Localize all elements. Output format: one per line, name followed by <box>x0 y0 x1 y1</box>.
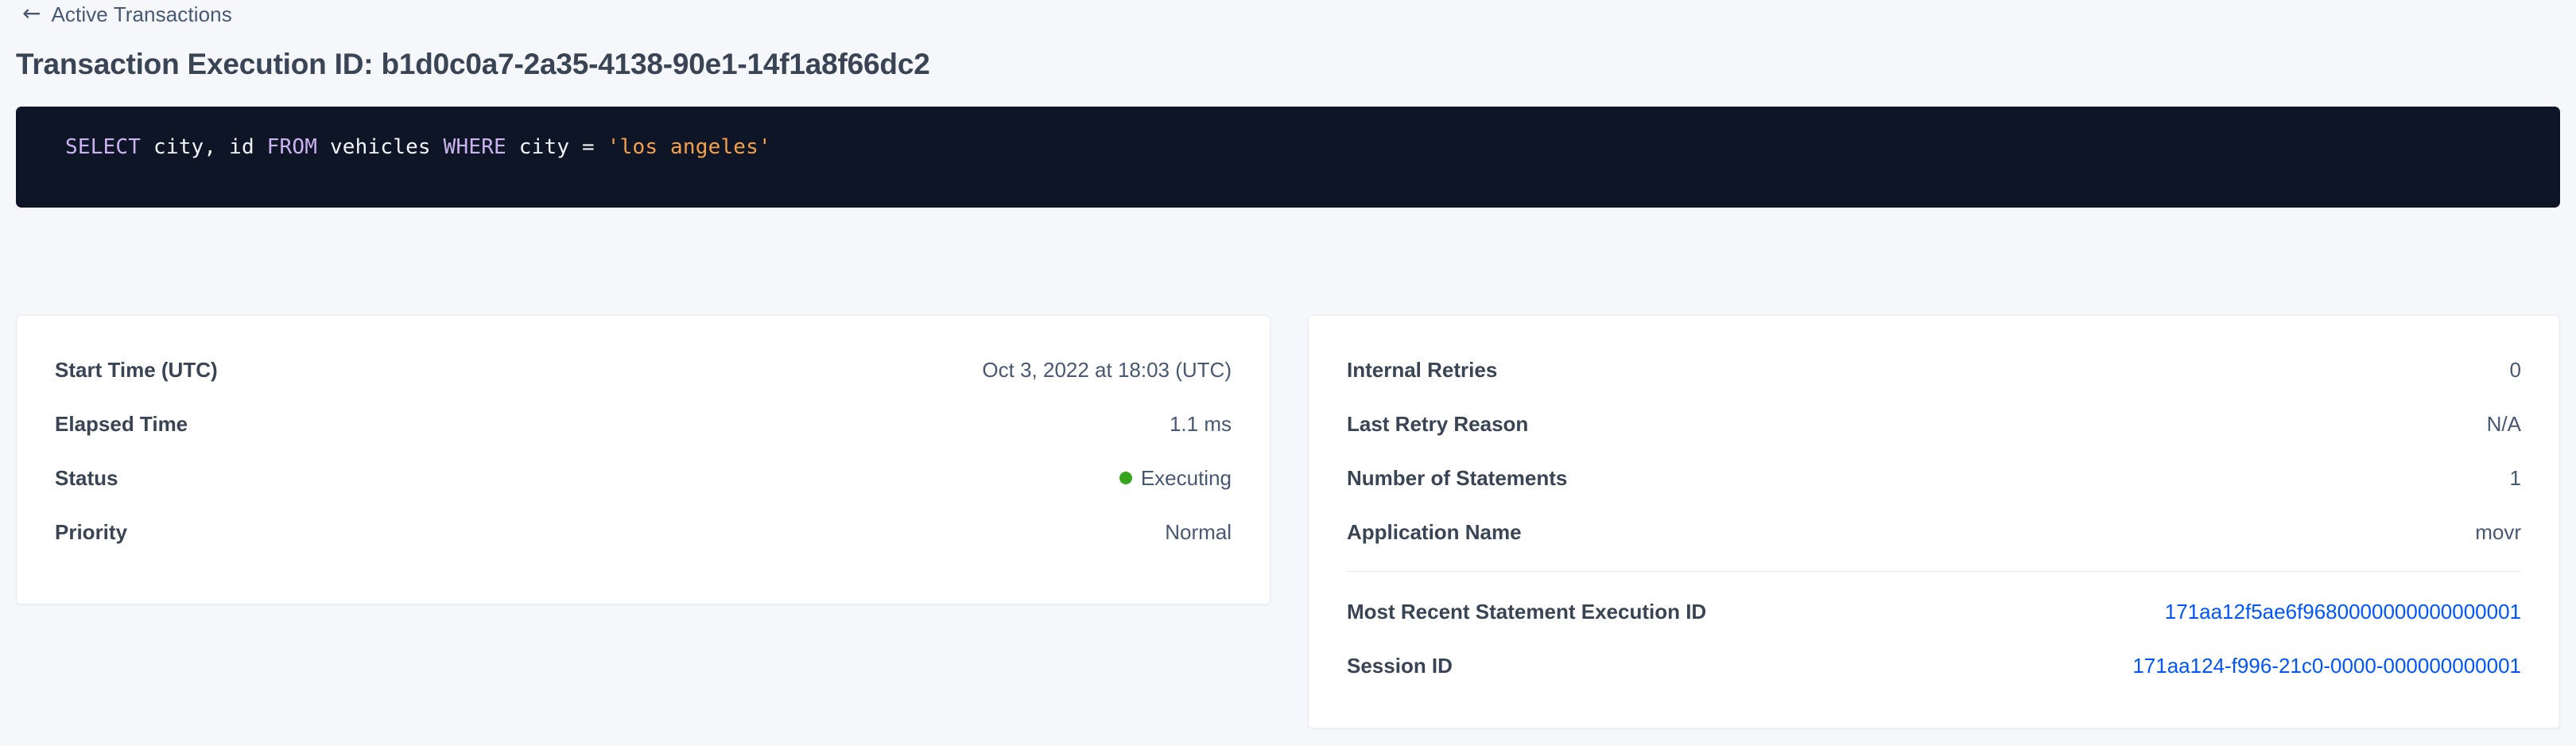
overview-label: Priority <box>55 520 127 545</box>
overview-label: Elapsed Time <box>55 412 188 437</box>
detail-id-value-link[interactable]: 171aa124-f996-21c0-0000-000000000001 <box>2132 654 2521 678</box>
sql-token-op <box>431 135 444 159</box>
breadcrumb[interactable]: ← Active Transactions <box>22 2 232 26</box>
detail-id-row: Most Recent Statement Execution ID171aa1… <box>1347 585 2521 639</box>
detail-row: Number of Statements1 <box>1347 451 2521 505</box>
sql-token-kw: FROM <box>267 135 317 159</box>
overview-value: 1.1 ms <box>1170 412 1232 437</box>
arrow-left-icon[interactable]: ← <box>22 2 41 25</box>
detail-id-row: Session ID171aa124-f996-21c0-0000-000000… <box>1347 639 2521 693</box>
transaction-details-card: Internal Retries0Last Retry ReasonN/ANum… <box>1308 315 2560 729</box>
detail-row: Application Namemovr <box>1347 505 2521 559</box>
overview-row: Start Time (UTC)Oct 3, 2022 at 18:03 (UT… <box>55 343 1232 397</box>
overview-value-text: Oct 3, 2022 at 18:03 (UTC) <box>982 358 1232 383</box>
detail-value-text: 0 <box>2510 358 2521 383</box>
sql-token-op <box>317 135 330 159</box>
overview-row: PriorityNormal <box>55 505 1232 559</box>
detail-label: Application Name <box>1347 520 1522 545</box>
sql-token-op: = <box>569 135 607 159</box>
detail-value-text: 1 <box>2510 466 2521 491</box>
detail-id-label: Most Recent Statement Execution ID <box>1347 600 1706 624</box>
overview-value-text: Executing <box>1141 466 1232 491</box>
detail-value: movr <box>2475 520 2521 545</box>
detail-id-value-text: 171aa124-f996-21c0-0000-000000000001 <box>2132 654 2521 678</box>
overview-value: Executing <box>1119 466 1232 491</box>
overview-value: Normal <box>1165 520 1232 545</box>
detail-value: 1 <box>2510 466 2521 491</box>
card-divider <box>1347 571 2521 572</box>
detail-value-text: movr <box>2475 520 2521 545</box>
page-title: Transaction Execution ID: b1d0c0a7-2a35-… <box>16 48 930 81</box>
sql-token-op <box>254 135 267 159</box>
detail-row: Last Retry ReasonN/A <box>1347 397 2521 451</box>
overview-label: Status <box>55 466 118 491</box>
transaction-overview-card: Start Time (UTC)Oct 3, 2022 at 18:03 (UT… <box>16 315 1271 604</box>
sql-token-kw: WHERE <box>444 135 506 159</box>
detail-label: Number of Statements <box>1347 466 1567 491</box>
detail-id-label: Session ID <box>1347 654 1453 678</box>
detail-label: Last Retry Reason <box>1347 412 1528 437</box>
detail-id-value-link[interactable]: 171aa12f5ae6f9680000000000000001 <box>2165 600 2521 624</box>
sql-token-id: vehicles <box>330 135 431 159</box>
sql-code-block: SELECT city, id FROM vehicles WHERE city… <box>16 107 2560 208</box>
overview-value-text: 1.1 ms <box>1170 412 1232 437</box>
overview-value: Oct 3, 2022 at 18:03 (UTC) <box>982 358 1232 383</box>
detail-value: 0 <box>2510 358 2521 383</box>
transaction-detail-page: ← Active Transactions Transaction Execut… <box>0 0 2576 746</box>
detail-row: Internal Retries0 <box>1347 343 2521 397</box>
sql-token-op <box>141 135 153 159</box>
overview-row: StatusExecuting <box>55 451 1232 505</box>
status-dot-icon <box>1119 472 1132 484</box>
detail-id-value-text: 171aa12f5ae6f9680000000000000001 <box>2165 600 2521 624</box>
sql-token-op <box>506 135 519 159</box>
sql-token-str: 'los angeles' <box>607 135 771 159</box>
overview-label: Start Time (UTC) <box>55 358 218 383</box>
sql-token-id: city, id <box>153 135 254 159</box>
sql-query-text: SELECT city, id FROM vehicles WHERE city… <box>65 135 2560 159</box>
sql-token-kw: SELECT <box>65 135 141 159</box>
overview-row: Elapsed Time1.1 ms <box>55 397 1232 451</box>
overview-value-text: Normal <box>1165 520 1232 545</box>
detail-label: Internal Retries <box>1347 358 1497 383</box>
detail-value: N/A <box>2487 412 2521 437</box>
sql-token-id: city <box>519 135 569 159</box>
detail-value-text: N/A <box>2487 412 2521 437</box>
breadcrumb-label[interactable]: Active Transactions <box>51 2 231 27</box>
